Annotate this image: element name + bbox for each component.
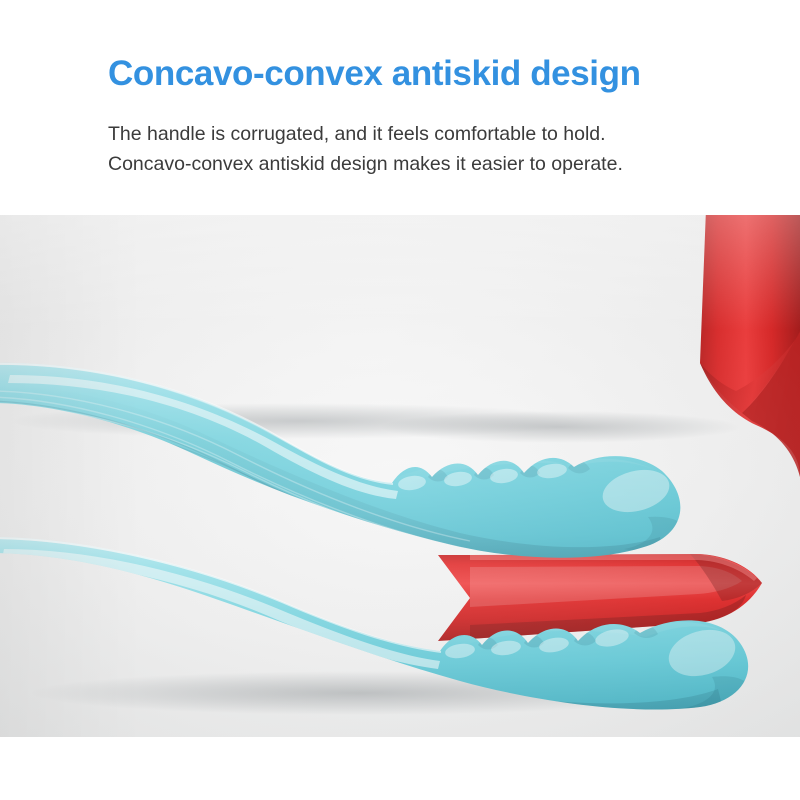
product-photo [0, 215, 800, 737]
page-title: Concavo-convex antiskid design [108, 54, 641, 94]
description-line-1: The handle is corrugated, and it feels c… [108, 119, 623, 149]
description-text: The handle is corrugated, and it feels c… [108, 119, 623, 179]
header-text-block: Concavo-convex antiskid design The handl… [0, 0, 800, 215]
product-photo-illustration [0, 215, 800, 737]
upper-tong-arm [0, 357, 688, 568]
upper-arm-body [0, 363, 680, 558]
description-line-2: Concavo-convex antiskid design makes it … [108, 149, 623, 179]
photo-bottom-margin [0, 737, 800, 800]
product-feature-page: Concavo-convex antiskid design The handl… [0, 0, 800, 800]
lower-arm-highlight [2, 549, 440, 669]
